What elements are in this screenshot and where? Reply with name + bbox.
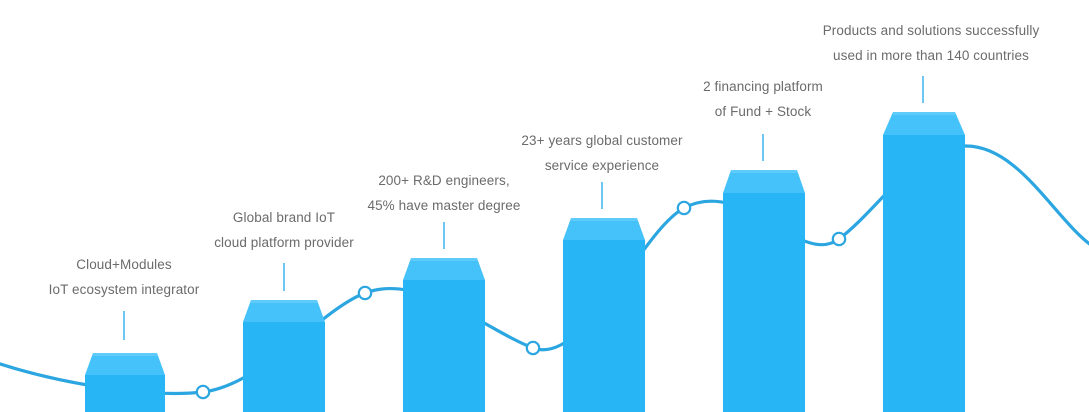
bar-top-face-3 — [403, 258, 485, 280]
chart-scene — [0, 0, 1089, 412]
infographic-canvas: Cloud+ModulesIoT ecosystem integratorGlo… — [0, 0, 1089, 412]
bar-top-face-6 — [883, 112, 965, 135]
bar-top-face-5 — [723, 170, 805, 193]
bar-top-face-4 — [563, 218, 645, 240]
curve-marker-4[interactable] — [678, 202, 690, 214]
bar-top-face-1 — [85, 353, 165, 375]
bar-front-face-6 — [883, 135, 965, 412]
bar-group-2[interactable] — [243, 300, 325, 412]
curve-marker-1[interactable] — [197, 386, 209, 398]
bar-group-4[interactable] — [563, 218, 645, 412]
bar-group-1[interactable] — [85, 353, 165, 412]
bar-top-edge-3 — [411, 258, 477, 261]
curve-marker-3[interactable] — [527, 342, 539, 354]
bar-front-face-2 — [243, 322, 325, 412]
bar-top-face-2 — [243, 300, 325, 322]
bar-top-edge-2 — [251, 300, 317, 303]
bar-top-edge-4 — [571, 218, 637, 221]
bar-group-6[interactable] — [883, 112, 965, 412]
curve-marker-5[interactable] — [833, 233, 845, 245]
bars-front-layer — [85, 112, 965, 412]
bar-front-face-5 — [723, 193, 805, 412]
bar-front-face-4 — [563, 240, 645, 412]
bar-top-edge-1 — [93, 353, 157, 356]
bar-top-edge-6 — [893, 112, 955, 115]
bar-group-5[interactable] — [723, 170, 805, 412]
bar-front-face-3 — [403, 280, 485, 412]
bar-group-3[interactable] — [403, 258, 485, 412]
bar-top-edge-5 — [731, 170, 797, 173]
curve-marker-2[interactable] — [359, 287, 371, 299]
bar-front-face-1 — [85, 375, 165, 412]
